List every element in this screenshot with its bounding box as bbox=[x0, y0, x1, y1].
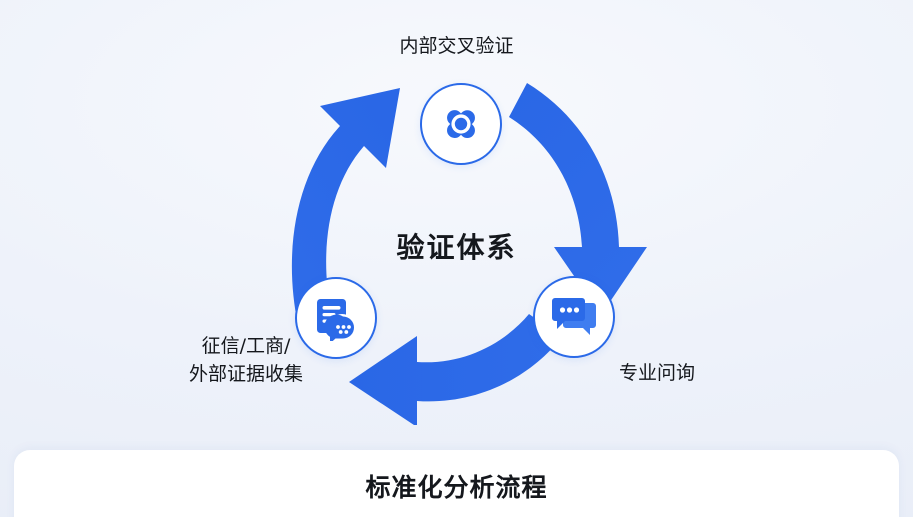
arrow-right-to-left-icon bbox=[349, 314, 562, 425]
footer-panel: 标准化分析流程 bbox=[14, 450, 899, 517]
document-chat-icon bbox=[313, 295, 359, 341]
chat-bubbles-icon bbox=[550, 295, 598, 339]
footer-title: 标准化分析流程 bbox=[14, 468, 899, 504]
cycle-diagram: 验证体系 bbox=[0, 0, 913, 450]
node-internal-cross-validation[interactable] bbox=[420, 83, 502, 165]
center-label: 验证体系 bbox=[0, 226, 913, 266]
node-label-line-1: 征信/工商/ bbox=[176, 333, 316, 361]
slide-canvas: 验证体系 bbox=[0, 0, 913, 517]
node-label-external-evidence-collection: 征信/工商/ 外部证据收集 bbox=[176, 333, 316, 388]
node-label-professional-inquiry: 专业问询 bbox=[619, 360, 695, 388]
node-professional-inquiry[interactable] bbox=[533, 276, 615, 358]
cross-node-icon bbox=[435, 98, 487, 150]
node-label-line-2: 外部证据收集 bbox=[176, 361, 316, 389]
node-label-internal-cross-validation: 内部交叉验证 bbox=[0, 33, 913, 61]
